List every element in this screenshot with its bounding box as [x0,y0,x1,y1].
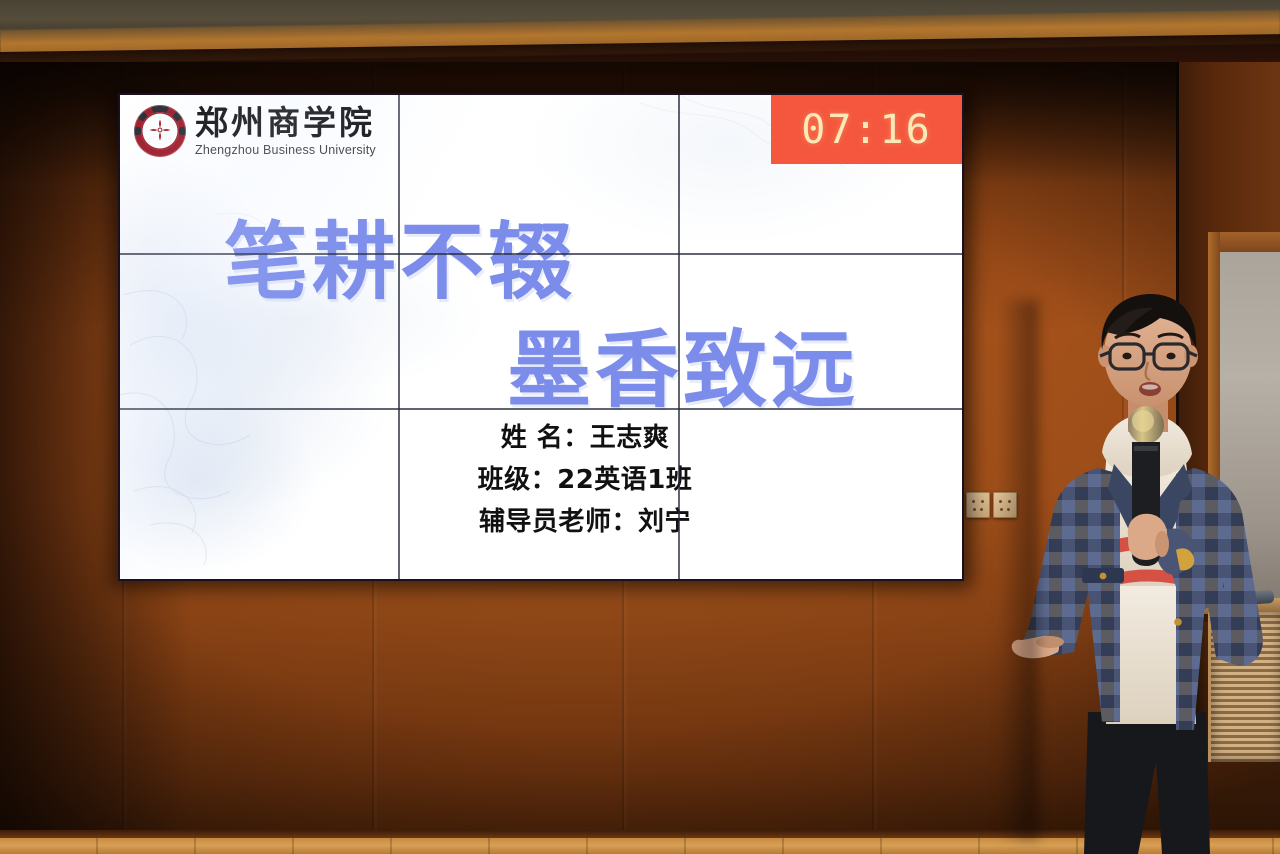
countdown-timer-value: 07:16 [801,107,931,153]
video-wall-bezel-vertical-1 [398,95,400,579]
jacket-left-panel [1029,468,1120,722]
person-shadow [998,300,1038,840]
university-crest-icon [134,105,186,157]
trousers [1084,712,1210,854]
presenter-advisor: 辅导员老师：刘宁 [420,501,750,543]
teeth [1142,384,1158,389]
countdown-timer-badge[interactable]: 07:16 [771,95,962,164]
video-wall-bezel-horizontal-2 [120,408,962,410]
thumb-right [1155,531,1169,557]
video-wall-bezel-horizontal-1 [120,253,962,255]
eye-left [1122,353,1131,360]
eye-right [1166,353,1175,360]
student-presenter [1010,292,1280,854]
crest-star-motif [148,118,172,142]
scene-root: 郑州商学院 Zhengzhou Business University 笔耕不辍… [0,0,1280,854]
university-name-en: Zhengzhou Business University [195,144,376,157]
pocket-button-left [1100,573,1107,580]
presenter-info-block: 姓 名：王志爽 班级：22英语1班 辅导员老师：刘宁 [420,417,750,543]
university-branding: 郑州商学院 Zhengzhou Business University [134,105,376,157]
presenter-name: 姓 名：王志爽 [420,417,750,459]
jacket-button [1174,618,1182,626]
video-wall-bezel-vertical-2 [678,95,680,579]
video-wall-screen[interactable]: 郑州商学院 Zhengzhou Business University 笔耕不辍… [120,95,962,579]
university-name-cn: 郑州商学院 [195,106,376,139]
fingers-left [1036,636,1064,648]
presenter-class: 班级：22英语1班 [420,459,750,501]
